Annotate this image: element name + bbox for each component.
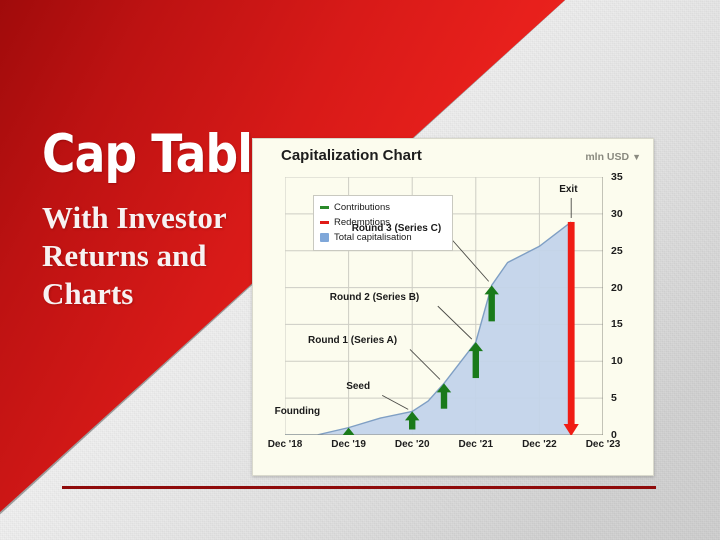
arrow-shaft [473, 350, 479, 378]
annotation-leader-line [410, 349, 440, 379]
annotation-leader-line [382, 395, 408, 409]
chart-annotation-label: Round 1 (Series A) [308, 335, 397, 346]
legend-item[interactable]: Contributions [320, 200, 444, 215]
x-axis-tick-label: Dec '22 [522, 439, 557, 450]
capitalization-chart-panel: Capitalization Chart mln USD▼ 0510152025… [252, 138, 654, 476]
total-capitalisation-area [285, 222, 571, 435]
unit-dropdown[interactable]: mln USD▼ [585, 151, 641, 163]
arrow-shaft [568, 222, 575, 425]
chart-annotation-label: Exit [559, 184, 577, 195]
y-axis-tick-label: 15 [611, 318, 623, 330]
x-axis-tick-label: Dec '18 [268, 439, 303, 450]
y-axis-tick-label: 25 [611, 245, 623, 257]
y-axis-tick-label: 10 [611, 355, 623, 367]
legend-swatch-icon [320, 233, 329, 242]
annotation-leader-line [452, 239, 489, 281]
y-axis-tick-label: 30 [611, 208, 623, 220]
footer-divider [62, 486, 656, 489]
unit-label: mln USD [585, 151, 629, 163]
chart-annotation-label: Seed [346, 381, 370, 392]
chart-annotation-label: Round 3 (Series C) [352, 223, 441, 234]
chevron-down-icon: ▼ [632, 152, 641, 162]
arrow-shaft [489, 293, 495, 321]
x-axis-tick-label: Dec '20 [395, 439, 430, 450]
y-axis-tick-label: 5 [611, 392, 617, 404]
legend-swatch-icon [320, 206, 329, 209]
y-axis-tick-label: 20 [611, 282, 623, 294]
chart-annotation-label: Round 2 (Series B) [330, 292, 419, 303]
x-axis: Dec '18Dec '19Dec '20Dec '21Dec '22Dec '… [253, 439, 653, 461]
arrow-shaft [441, 391, 447, 408]
x-axis-tick-label: Dec '19 [331, 439, 366, 450]
presentation-slide: Cap Table With Investor Returns and Char… [0, 0, 720, 540]
y-axis-tick-label: 35 [611, 171, 623, 183]
arrow-shaft [409, 419, 415, 429]
y-axis: 05101520253035 [605, 177, 645, 435]
legend-swatch-icon [320, 221, 329, 224]
chart-annotation-label: Founding [275, 406, 321, 417]
legend-item-label: Contributions [334, 202, 390, 213]
page-subtitle: With Investor Returns and Charts [42, 199, 287, 312]
annotation-leader-line [438, 306, 472, 339]
chart-header: Capitalization Chart mln USD▼ [253, 139, 653, 173]
x-axis-tick-label: Dec '23 [586, 439, 621, 450]
chart-title: Capitalization Chart [281, 147, 422, 164]
x-axis-tick-label: Dec '21 [458, 439, 493, 450]
